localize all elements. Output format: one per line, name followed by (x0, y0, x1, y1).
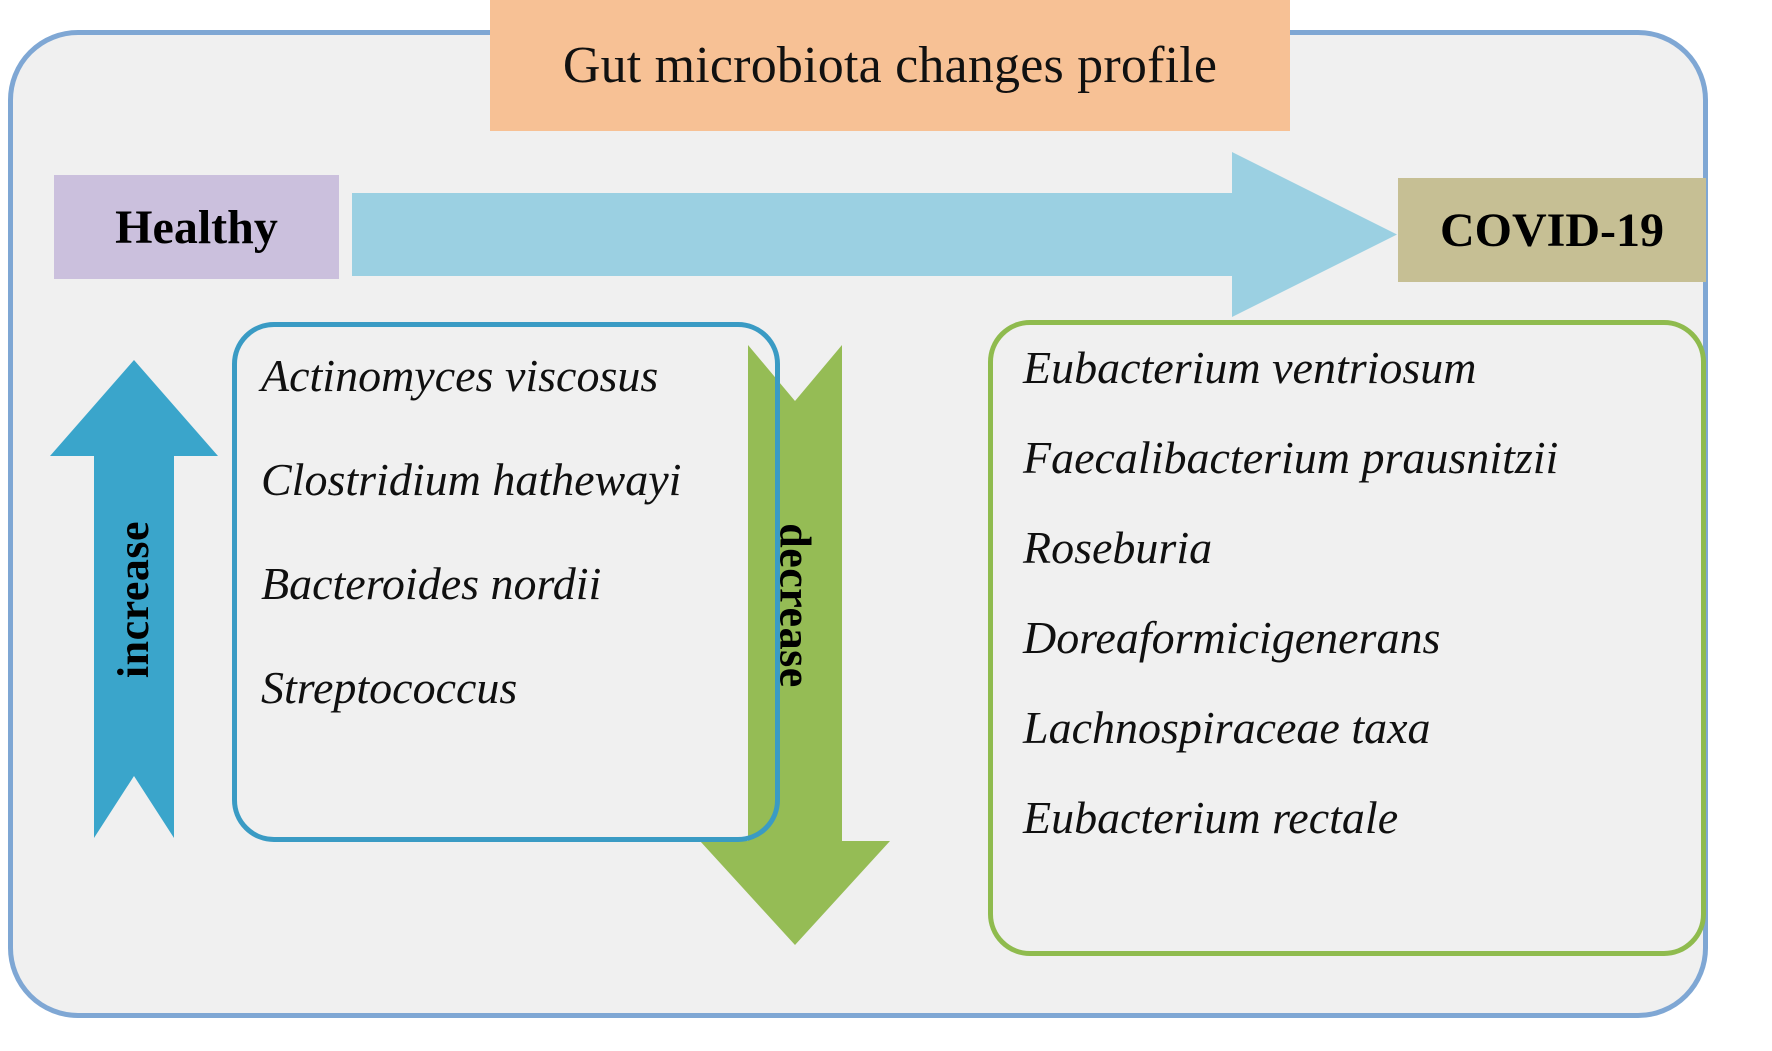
healthy-label: Healthy (115, 200, 278, 255)
healthy-label-box: Healthy (54, 175, 339, 279)
taxa-item: Eubacterium ventriosum (1023, 345, 1701, 391)
figure-title-banner: Gut microbiota changes profile (490, 0, 1290, 131)
healthy-to-covid-arrow-icon (352, 152, 1397, 317)
taxa-item: Doreaformicigenerans (1023, 615, 1701, 661)
taxa-item: Streptococcus (261, 665, 775, 711)
covid-label-box: COVID-19 (1398, 178, 1706, 282)
figure-title: Gut microbiota changes profile (563, 36, 1217, 95)
decreased-taxa-panel: Eubacterium ventriosum Faecalibacterium … (988, 320, 1706, 956)
gut-microbiota-diagram: Healthy COVID-19 Gut microbiota changes … (0, 0, 1772, 1051)
taxa-item: Faecalibacterium prausnitzii (1023, 435, 1701, 481)
increase-arrow-up-icon (50, 360, 218, 838)
covid-label: COVID-19 (1440, 203, 1664, 258)
taxa-item: Eubacterium rectale (1023, 795, 1701, 841)
taxa-item: Clostridium hathewayi (261, 457, 775, 503)
taxa-item: Roseburia (1023, 525, 1701, 571)
taxa-item: Actinomyces viscosus (261, 353, 775, 399)
taxa-item: Lachnospiraceae taxa (1023, 705, 1701, 751)
taxa-item: Bacteroides nordii (261, 561, 775, 607)
increased-taxa-panel: Actinomyces viscosus Clostridium hathewa… (232, 322, 780, 842)
